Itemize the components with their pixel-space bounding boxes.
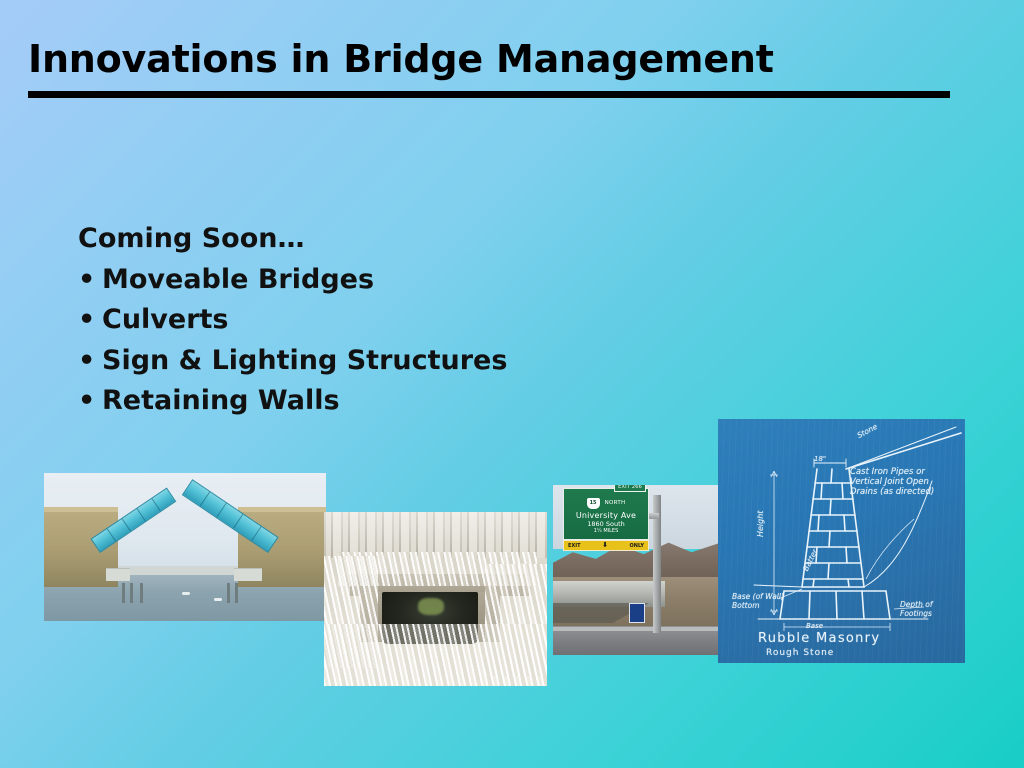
- pier-cap: [238, 507, 326, 512]
- list-item-label: Moveable Bridges: [102, 260, 374, 301]
- title-block: Innovations in Bridge Management: [28, 40, 968, 98]
- down-arrow-icon: ⬇: [602, 542, 608, 549]
- list-item: • Moveable Bridges: [78, 260, 778, 301]
- blueprint-caption-subtitle: Rough Stone: [766, 648, 834, 659]
- moveable-bridge-photo: [44, 473, 326, 621]
- bridge-piling: [140, 583, 143, 603]
- bullet-icon: •: [78, 341, 102, 382]
- bullet-icon: •: [78, 381, 102, 422]
- blueprint-base-of-wall-label: Base (of Wall) Bottom: [732, 593, 796, 611]
- presentation-slide: Innovations in Bridge Management Coming …: [0, 0, 1024, 768]
- body-heading: Coming Soon…: [78, 219, 778, 260]
- blueprint-top-dimension: 18": [814, 455, 826, 463]
- body-text-block: Coming Soon… • Moveable Bridges • Culver…: [78, 219, 778, 422]
- title-underline-rule: [28, 91, 950, 98]
- blueprint-height-label: Height: [756, 511, 765, 537]
- sign-guardrail: [553, 626, 718, 631]
- list-item-label: Retaining Walls: [102, 381, 340, 422]
- blueprint-drain-note: Cast Iron Pipes or Vertical Joint Open D…: [850, 467, 958, 497]
- bridge-boat: [214, 598, 222, 601]
- culvert-far-light: [418, 598, 444, 615]
- bridge-boat: [182, 592, 190, 595]
- primary-destination: University Ave: [564, 512, 648, 520]
- blueprint-drawing: [718, 419, 965, 663]
- secondary-destination: 1860 South: [564, 521, 648, 528]
- pier-cap: [44, 507, 118, 512]
- blueprint-caption: Rubble Masonry: [758, 631, 880, 646]
- exit-only-left-label: EXIT: [568, 543, 581, 549]
- sign-roadway: [553, 629, 718, 655]
- blue-roadside-sign: [629, 603, 645, 623]
- distance-label: 1¼ MILES: [564, 529, 648, 534]
- interstate-shield-icon: 15: [587, 498, 600, 509]
- list-item-label: Sign & Lighting Structures: [102, 341, 507, 382]
- bridge-piling: [227, 583, 230, 603]
- list-item: • Culverts: [78, 300, 778, 341]
- bridge-piling: [235, 583, 238, 603]
- bridge-deck-right: [234, 568, 262, 581]
- bridge-piling: [130, 583, 133, 603]
- blueprint-base-dimension: Base: [806, 622, 823, 630]
- direction-label: NORTH: [605, 501, 626, 507]
- list-item-label: Culverts: [102, 300, 229, 341]
- bridge-deck-left: [106, 568, 130, 581]
- highway-sign-photo: EXIT 266 15 NORTH University Ave 1860 So…: [553, 485, 718, 655]
- exit-only-right-label: ONLY: [630, 543, 644, 549]
- guide-sign-panel: EXIT 266 15 NORTH University Ave 1860 So…: [563, 488, 649, 540]
- exit-number-tab: EXIT 266: [614, 485, 646, 492]
- bridge-piling: [122, 583, 125, 603]
- culvert-photo: [324, 512, 547, 686]
- route-shield-row: 15 NORTH: [564, 498, 648, 509]
- bullet-icon: •: [78, 260, 102, 301]
- blueprint-depth-of-footings-label: Depth of Footings: [900, 601, 962, 619]
- list-item: • Sign & Lighting Structures: [78, 341, 778, 382]
- list-item: • Retaining Walls: [78, 381, 778, 422]
- bullet-icon: •: [78, 300, 102, 341]
- exit-only-panel: EXIT ⬇ ONLY: [563, 540, 649, 551]
- culvert-brush: [324, 624, 547, 686]
- retaining-wall-blueprint-photo: 18" Stone Cast Iron Pipes or Vertical Jo…: [718, 419, 965, 663]
- page-title: Innovations in Bridge Management: [28, 40, 968, 80]
